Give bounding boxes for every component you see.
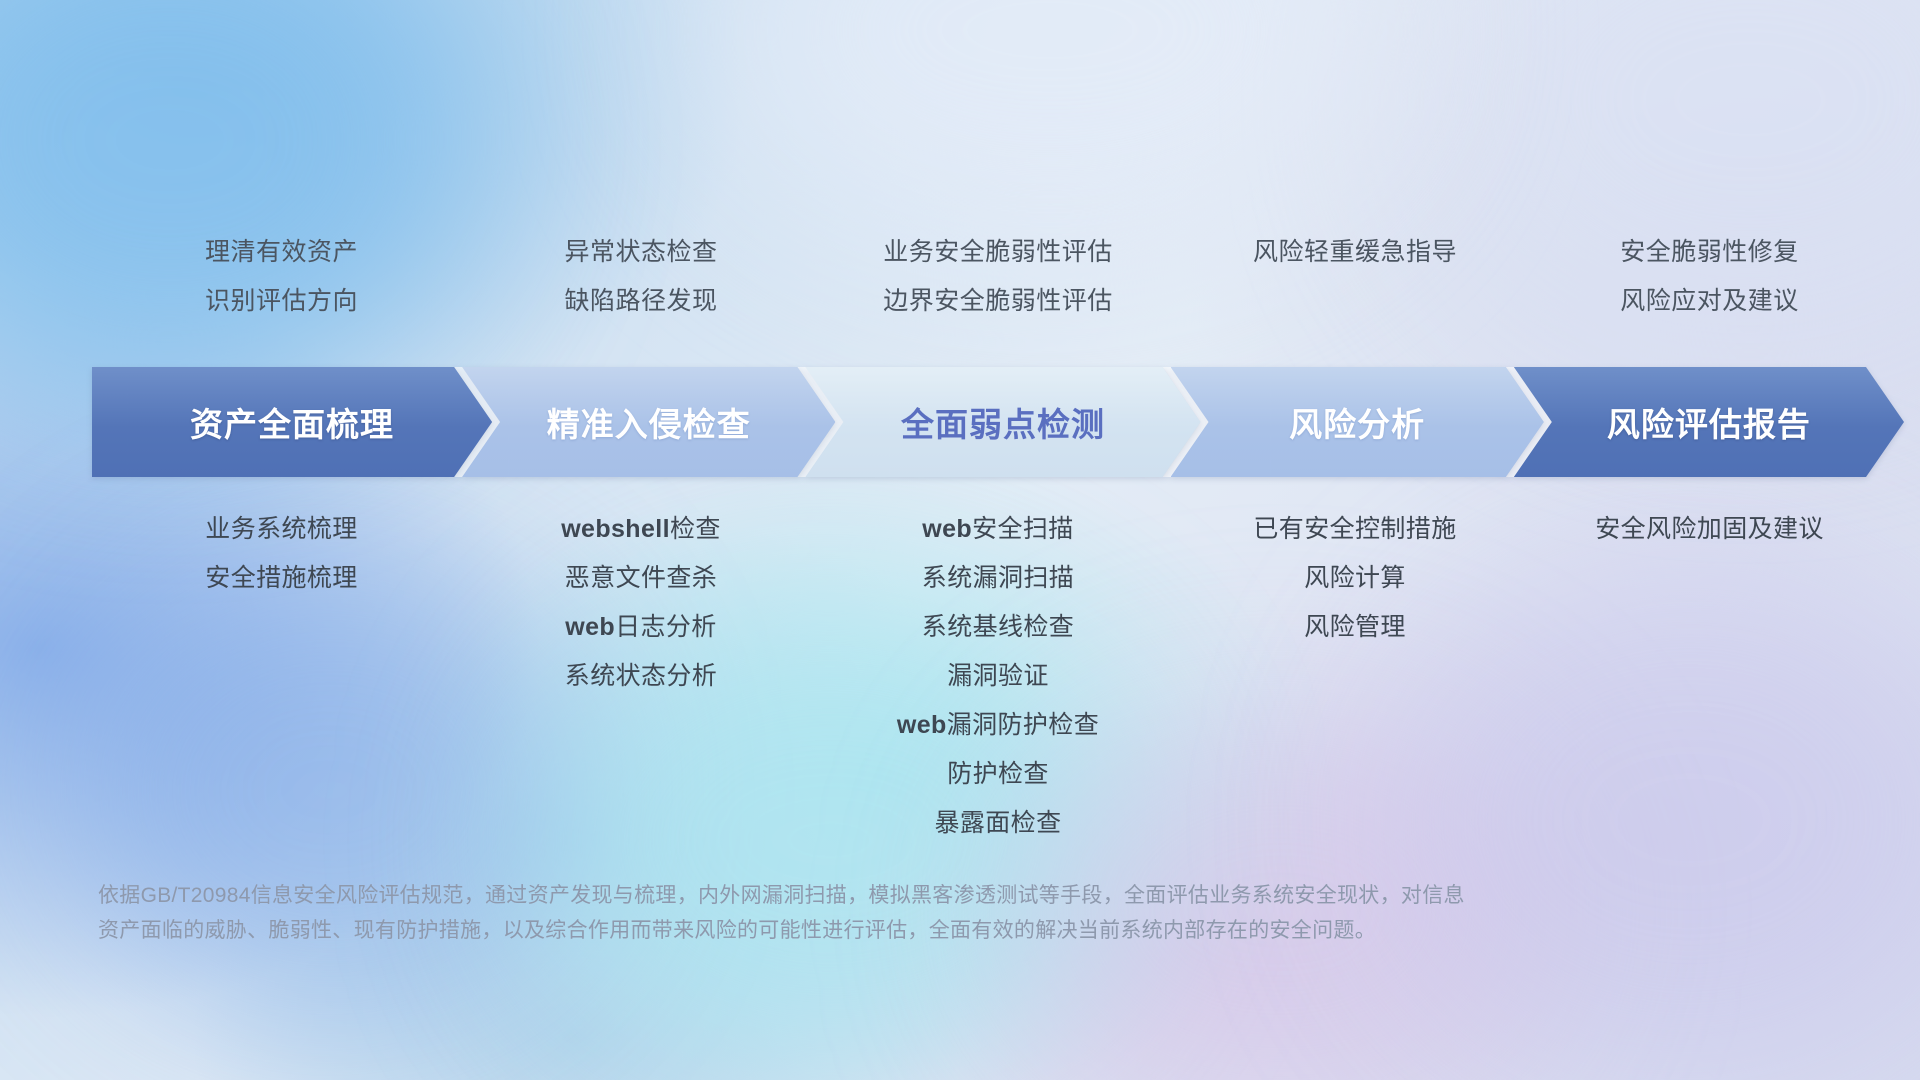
list-item-keyword: web xyxy=(565,613,615,641)
process-stage-2[interactable]: 精准入侵检查 xyxy=(462,367,835,477)
top-notes-column: 异常状态检查缺陷路径发现 xyxy=(468,228,814,326)
list-item: web安全扫描 xyxy=(814,505,1182,554)
list-item: 系统漏洞扫描 xyxy=(814,554,1182,603)
list-item: 安全措施梳理 xyxy=(95,554,468,603)
background-blob xyxy=(0,0,480,400)
list-item: 防护检查 xyxy=(814,750,1182,799)
stage-title: 精准入侵检查 xyxy=(547,398,751,446)
process-flow-banner: 资产全面梳理精准入侵检查全面弱点检测风险分析风险评估报告 xyxy=(92,367,1904,477)
list-item: 风险管理 xyxy=(1182,603,1528,652)
detail-list: 业务系统梳理安全措施梳理 xyxy=(95,505,468,603)
detail-lists-row: 业务系统梳理安全措施梳理webshell检查恶意文件查杀web日志分析系统状态分… xyxy=(95,505,1891,848)
footer-line-1: 依据GB/T20984信息安全风险评估规范，通过资产发现与梳理，内外网漏洞扫描，… xyxy=(98,878,1828,913)
list-item-keyword: web xyxy=(922,515,972,543)
list-item: web漏洞防护检查 xyxy=(814,701,1182,750)
top-note: 风险应对及建议 xyxy=(1528,277,1891,326)
top-notes-column: 理清有效资产识别评估方向 xyxy=(95,228,468,326)
detail-list: web安全扫描系统漏洞扫描系统基线检查漏洞验证web漏洞防护检查防护检查暴露面检… xyxy=(814,505,1182,848)
list-item: web日志分析 xyxy=(468,603,814,652)
list-item: 系统状态分析 xyxy=(468,652,814,701)
top-note: 边界安全脆弱性评估 xyxy=(814,277,1182,326)
top-note: 风险轻重缓急指导 xyxy=(1182,228,1528,277)
list-item-keyword: web xyxy=(897,711,947,739)
stage-title: 风险评估报告 xyxy=(1607,398,1811,446)
list-item: 已有安全控制措施 xyxy=(1182,505,1528,554)
detail-list: 安全风险加固及建议 xyxy=(1528,505,1891,554)
top-notes-row: 理清有效资产识别评估方向异常状态检查缺陷路径发现业务安全脆弱性评估边界安全脆弱性… xyxy=(95,228,1891,318)
top-note: 识别评估方向 xyxy=(95,277,468,326)
list-item: 暴露面检查 xyxy=(814,799,1182,848)
list-item: 恶意文件查杀 xyxy=(468,554,814,603)
stage-title: 全面弱点检测 xyxy=(901,398,1105,446)
detail-list: 已有安全控制措施风险计算风险管理 xyxy=(1182,505,1528,652)
top-notes-column: 风险轻重缓急指导 xyxy=(1182,228,1528,277)
stage-title: 风险分析 xyxy=(1289,398,1425,446)
process-stage-1[interactable]: 资产全面梳理 xyxy=(92,367,492,477)
list-item: 业务系统梳理 xyxy=(95,505,468,554)
footer-line-2: 资产面临的威胁、脆弱性、现有防护措施，以及综合作用而带来风险的可能性进行评估，全… xyxy=(98,913,1828,948)
list-item: 风险计算 xyxy=(1182,554,1528,603)
top-note: 异常状态检查 xyxy=(468,228,814,277)
footer-description: 依据GB/T20984信息安全风险评估规范，通过资产发现与梳理，内外网漏洞扫描，… xyxy=(98,878,1828,948)
top-notes-column: 业务安全脆弱性评估边界安全脆弱性评估 xyxy=(814,228,1182,326)
top-note: 缺陷路径发现 xyxy=(468,277,814,326)
top-note: 理清有效资产 xyxy=(95,228,468,277)
list-item: webshell检查 xyxy=(468,505,814,554)
infographic-canvas: 理清有效资产识别评估方向异常状态检查缺陷路径发现业务安全脆弱性评估边界安全脆弱性… xyxy=(0,0,1920,1080)
process-stage-5[interactable]: 风险评估报告 xyxy=(1514,367,1904,477)
background-blob xyxy=(700,0,1400,260)
top-note: 业务安全脆弱性评估 xyxy=(814,228,1182,277)
top-notes-column: 安全脆弱性修复风险应对及建议 xyxy=(1528,228,1891,326)
list-item: 漏洞验证 xyxy=(814,652,1182,701)
process-stage-4[interactable]: 风险分析 xyxy=(1171,367,1544,477)
list-item-keyword: webshell xyxy=(561,515,670,543)
top-note: 安全脆弱性修复 xyxy=(1528,228,1891,277)
detail-list: webshell检查恶意文件查杀web日志分析系统状态分析 xyxy=(468,505,814,701)
list-item: 系统基线检查 xyxy=(814,603,1182,652)
stage-title: 资产全面梳理 xyxy=(190,398,394,446)
process-stage-3[interactable]: 全面弱点检测 xyxy=(805,367,1200,477)
list-item: 安全风险加固及建议 xyxy=(1528,505,1891,554)
